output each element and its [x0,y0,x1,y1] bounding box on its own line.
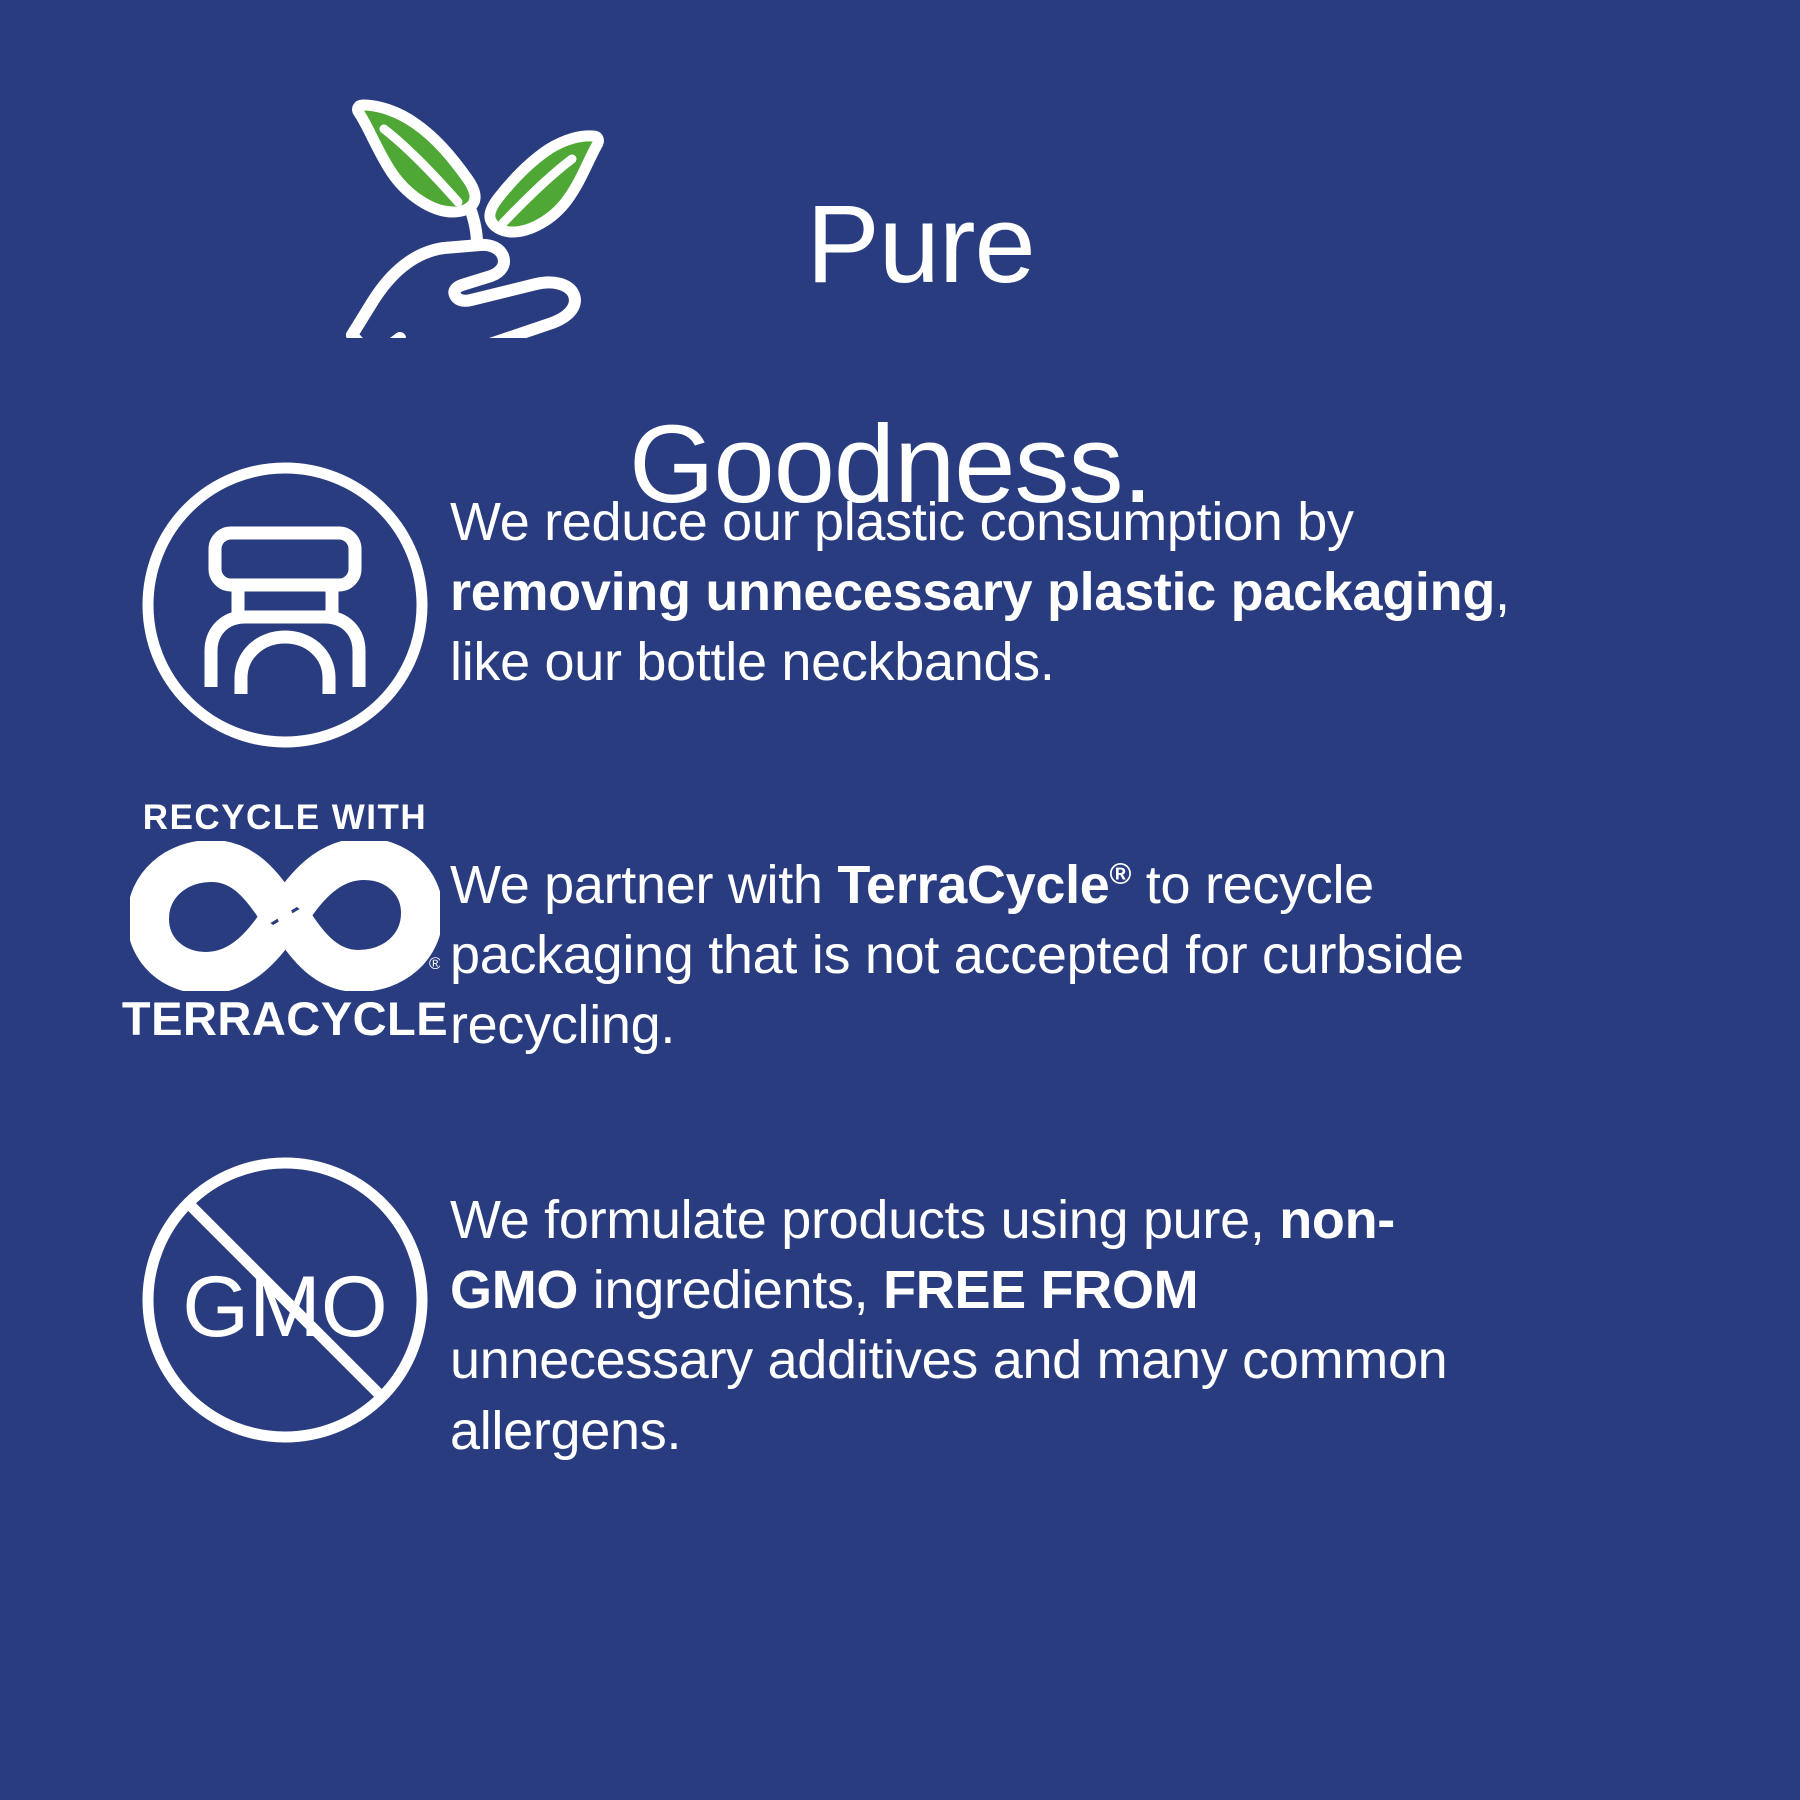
feature-icon-cell: RECYCLE WITH ® TERRACYCLE [120,800,450,1042]
terracycle-logo: RECYCLE WITH ® TERRACYCLE [130,800,440,1042]
hand-holding-sprout-icon [340,88,605,338]
feature-icon-cell: GMO [120,1150,450,1450]
gmo-label: GMO [182,1259,387,1355]
terracycle-top-label: RECYCLE WITH [143,800,427,835]
feature-row-gmo: GMO We formulate products using pure, no… [120,1150,1510,1466]
feature-row-terracycle: RECYCLE WITH ® TERRACYCLE [120,800,1510,1061]
feature-text-terracycle: We partner with TerraCycle® to recycle p… [450,800,1510,1061]
feature-text-gmo: We formulate products using pure, non-GM… [450,1150,1510,1466]
bottle-in-circle-icon [135,455,435,755]
infinity-recycle-arrows-icon: ® [130,841,440,991]
terracycle-bottom-label: TERRACYCLE [122,995,448,1042]
feature-row-plastic: We reduce our plastic consumption by rem… [120,455,1510,755]
pure-goodness-infographic: Pure Goodness. We reduce ou [0,0,1800,1800]
brand-title-line1: Pure [806,183,1034,306]
no-gmo-icon: GMO [135,1150,435,1450]
feature-icon-cell [120,455,450,755]
feature-text-plastic: We reduce our plastic consumption by rem… [450,455,1510,698]
terracycle-registered-mark: ® [429,954,440,973]
